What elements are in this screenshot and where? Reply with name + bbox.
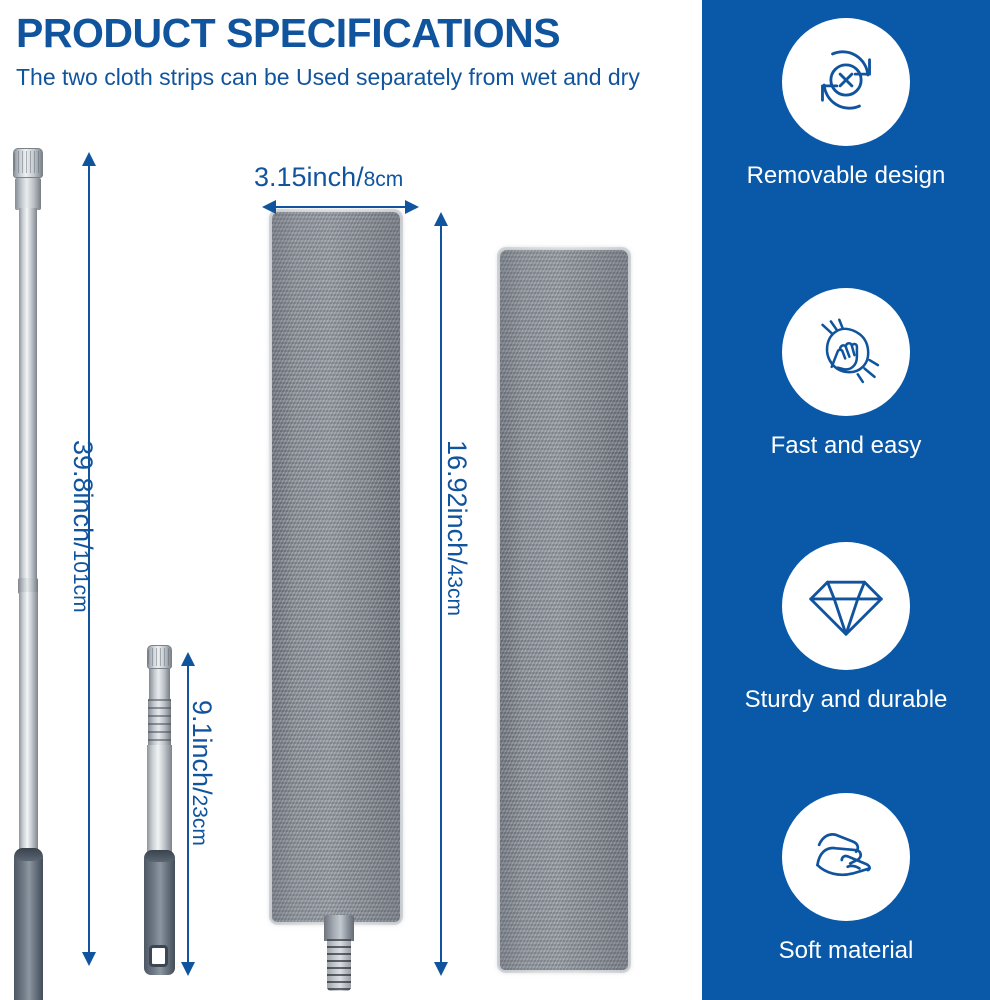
page-title: PRODUCT SPECIFICATIONS xyxy=(16,12,676,55)
refresh-cycle-x-icon xyxy=(804,38,888,127)
product-cloth-strip-1 xyxy=(272,212,400,922)
feature-icon-circle xyxy=(782,18,910,146)
arrow-down-icon xyxy=(82,952,96,966)
feature-label: Removable design xyxy=(747,162,946,190)
pole-upper-shaft xyxy=(19,208,37,583)
arrow-down-icon xyxy=(434,962,448,976)
product-screw-connector xyxy=(316,915,362,995)
feature-label: Soft material xyxy=(779,937,914,965)
product-pole-extended xyxy=(8,148,48,988)
dimension-line xyxy=(274,206,407,208)
feature-sidebar: Removable design xyxy=(702,0,990,1000)
feature-label: Fast and easy xyxy=(771,432,922,460)
screw-neck xyxy=(324,915,354,941)
pole-segment-lower xyxy=(147,745,172,855)
product-specifications-infographic: PRODUCT SPECIFICATIONS The two cloth str… xyxy=(0,0,990,1000)
pole-rubber-grip xyxy=(14,848,43,1000)
dimension-label-pole-collapsed: 9.1inch/23cm xyxy=(188,700,215,846)
feature-icon-circle xyxy=(782,288,910,416)
page-subtitle: The two cloth strips can be Used separat… xyxy=(16,63,641,92)
pole-grip-top-edge xyxy=(144,850,175,862)
feature-item-fast-and-easy: Fast and easy xyxy=(702,288,990,460)
pole-lower-shaft xyxy=(19,592,38,852)
feature-item-removable-design: Removable design xyxy=(702,18,990,190)
wiping-hand-icon xyxy=(804,308,888,397)
pole-segment-upper xyxy=(149,669,170,699)
dimension-label-pole-extended: 39.8inch/101cm xyxy=(69,440,96,613)
feature-item-soft-material: Soft material xyxy=(702,793,990,965)
pole-cap-ribs xyxy=(148,648,171,666)
feature-icon-circle xyxy=(782,542,910,670)
dimension-label-cloth-length: 16.92inch/43cm xyxy=(443,440,470,616)
pole-cap-ribs xyxy=(14,151,42,173)
feature-item-sturdy-and-durable: Sturdy and durable xyxy=(702,542,990,714)
feature-icon-circle xyxy=(782,793,910,921)
dimension-label-cloth-width: 3.15inch/8cm xyxy=(254,164,403,191)
pole-grip-top-edge xyxy=(14,848,43,861)
feature-label: Sturdy and durable xyxy=(745,686,948,714)
diamond-icon xyxy=(804,562,888,651)
product-cloth-strip-2 xyxy=(500,250,628,970)
pole-hanging-hole xyxy=(149,945,168,967)
arrow-down-icon xyxy=(181,962,195,976)
pole-collar xyxy=(15,178,41,210)
header-block: PRODUCT SPECIFICATIONS The two cloth str… xyxy=(16,12,676,92)
soft-touch-hand-icon xyxy=(804,813,888,902)
product-pole-collapsed xyxy=(140,645,180,990)
arrow-right-icon xyxy=(405,200,419,214)
dimension-line xyxy=(440,224,442,964)
pole-telescoping-rings xyxy=(148,699,171,747)
screw-threads xyxy=(327,939,351,991)
